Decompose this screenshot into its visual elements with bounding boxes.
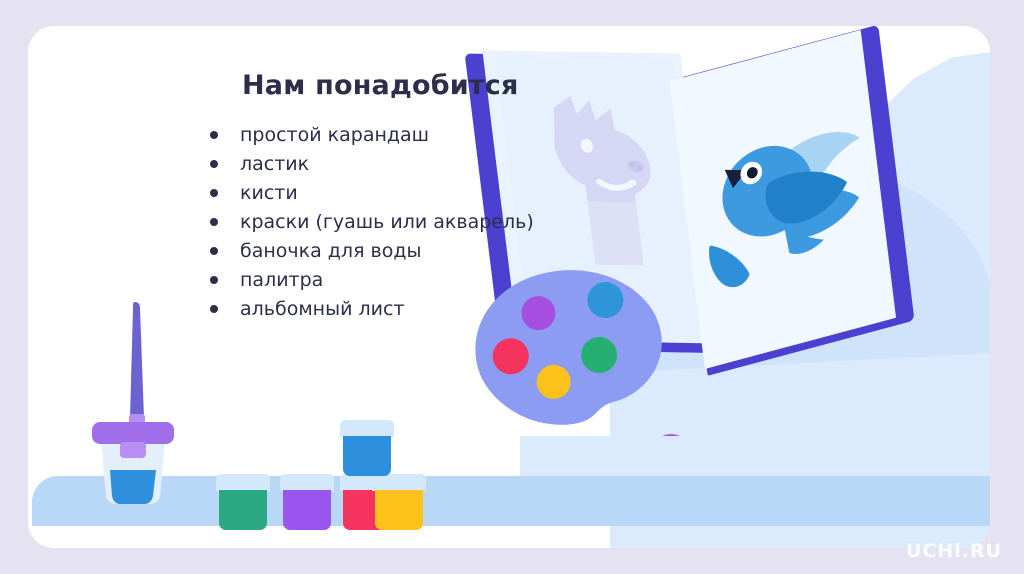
bullet-icon xyxy=(210,276,218,284)
list-item: краски (гуашь или акварель) xyxy=(210,210,650,234)
bullet-icon xyxy=(210,131,218,139)
jar-lid xyxy=(372,474,426,491)
bullet-icon xyxy=(210,305,218,313)
list-item: простой карандаш xyxy=(210,123,650,147)
bullet-icon xyxy=(210,247,218,255)
list-item-label: альбомный лист xyxy=(240,297,404,321)
paint-jar-yellow xyxy=(372,474,426,530)
requirements-list: простой карандаш ластик кисти краски (гу… xyxy=(210,123,650,321)
list-item-label: кисти xyxy=(240,181,298,205)
page-title: Нам понадобится xyxy=(242,70,650,101)
bullet-icon xyxy=(210,160,218,168)
brand-logo: UCHi.RU xyxy=(906,540,1002,562)
list-item: баночка для воды xyxy=(210,239,650,263)
jar-body xyxy=(219,490,267,530)
list-item: ластик xyxy=(210,152,650,176)
list-item-label: палитра xyxy=(240,268,323,292)
list-item: альбомный лист xyxy=(210,297,650,321)
list-item: кисти xyxy=(210,181,650,205)
jar-body xyxy=(343,436,391,476)
list-item: палитра xyxy=(210,268,650,292)
table-floor xyxy=(32,476,990,526)
list-item-label: баночка для воды xyxy=(240,239,422,263)
water-jar-icon xyxy=(92,412,174,504)
list-item-label: простой карандаш xyxy=(240,123,429,147)
jar-lid xyxy=(216,474,270,491)
content-text-block: Нам понадобится простой карандаш ластик … xyxy=(210,70,650,326)
bullet-icon xyxy=(210,189,218,197)
jar-lid xyxy=(340,420,394,437)
jar-lid xyxy=(280,474,334,491)
slide-card: Нам понадобится простой карандаш ластик … xyxy=(28,26,990,548)
jar-body xyxy=(375,490,423,530)
bullet-icon xyxy=(210,218,218,226)
paint-jar-green xyxy=(216,474,270,530)
jar-body xyxy=(283,490,331,530)
paint-jar-purple xyxy=(280,474,334,530)
list-item-label: ластик xyxy=(240,152,309,176)
slide-canvas: Нам понадобится простой карандаш ластик … xyxy=(0,0,1024,574)
list-item-label: краски (гуашь или акварель) xyxy=(240,210,534,234)
paint-jar-blue xyxy=(340,420,394,476)
